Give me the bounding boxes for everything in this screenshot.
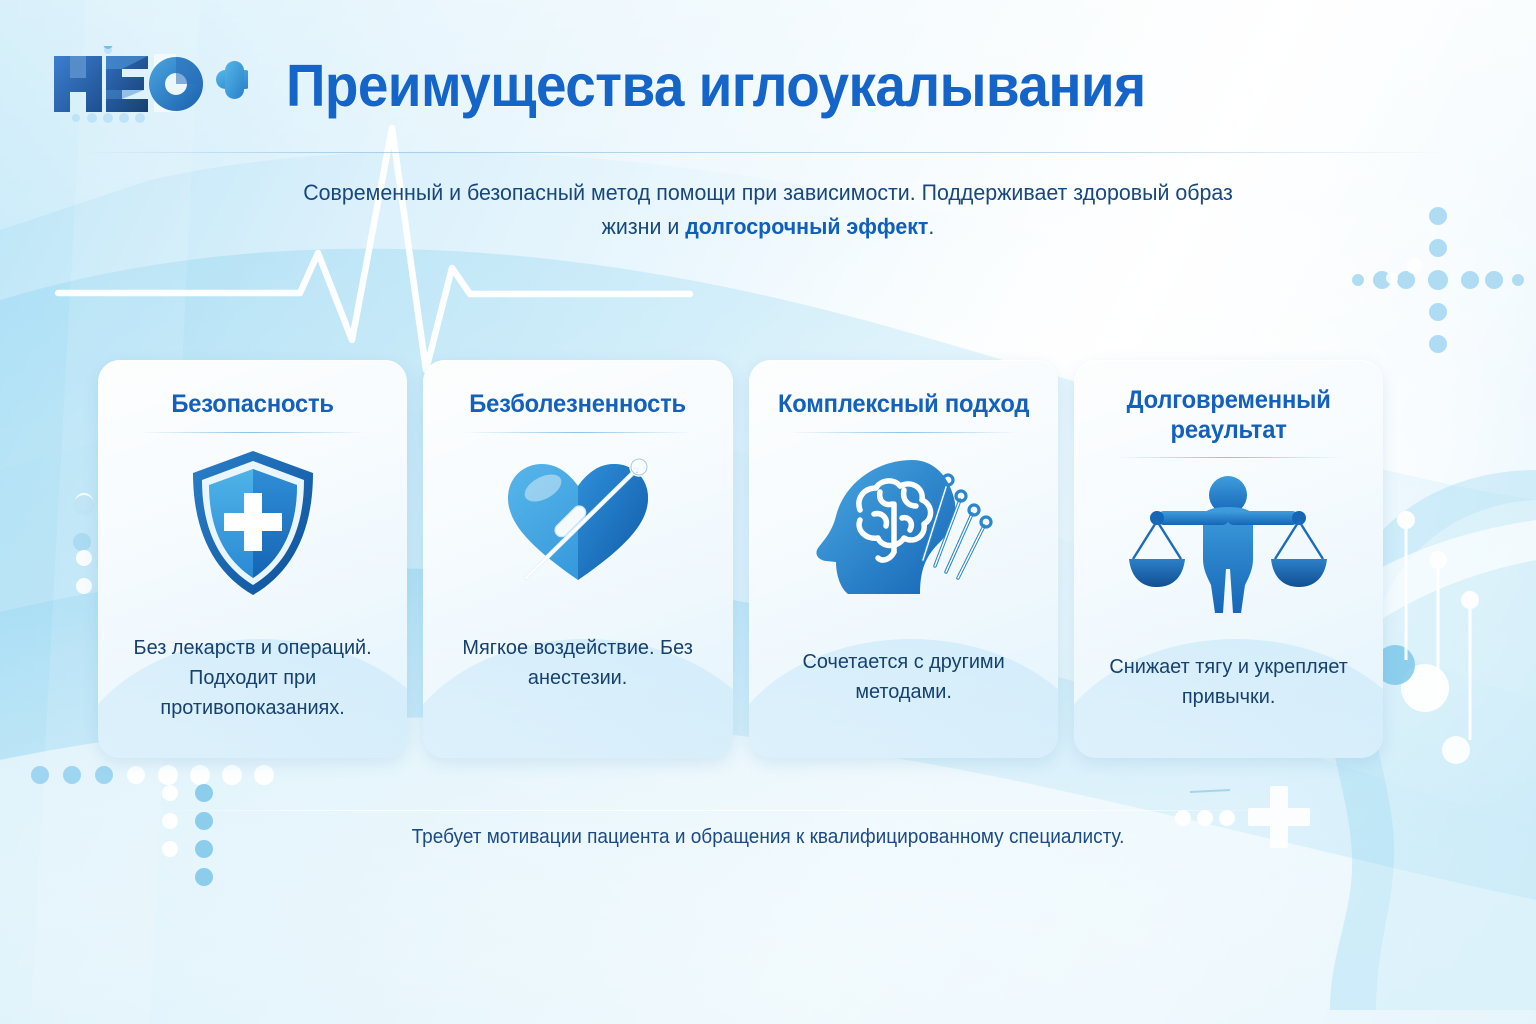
card-title: Комплексный подход — [756, 360, 1050, 420]
shield-cross-icon — [98, 439, 407, 607]
poster-header: Преимущества иглоукалывания — [0, 0, 1536, 158]
person-scales-icon — [1074, 464, 1383, 632]
subtitle: Современный и безопасный метод помощи пр… — [293, 176, 1243, 244]
subtitle-text-end: . — [928, 214, 934, 239]
footer-divider — [150, 810, 1300, 811]
page-title: Преимущества иглоукалывания — [286, 56, 1272, 118]
benefit-card-safety[interactable]: Безопасность — [98, 360, 407, 758]
card-title: Безопасность — [106, 360, 400, 420]
card-body: Снижает тягу и укрепляет привычки. — [1078, 632, 1378, 713]
benefit-card-painless[interactable]: Безболезненность — [423, 360, 732, 758]
benefit-cards: Безопасность — [98, 360, 1383, 758]
card-divider — [1114, 457, 1343, 458]
heart-needle-icon — [423, 439, 732, 607]
card-title: Долговременный реаультат — [1081, 360, 1375, 445]
infographic-poster: Преимущества иглоукалывания Современный … — [0, 0, 1536, 1024]
card-divider — [138, 432, 367, 433]
benefit-card-complex-approach[interactable]: Комплексный подход — [749, 360, 1058, 758]
brand-logo[interactable] — [48, 46, 248, 124]
card-body: Без лекарств и операций. Подходит при пр… — [103, 607, 403, 724]
header-divider — [80, 152, 1456, 153]
card-body: Сочетается с другими методами. — [753, 607, 1053, 708]
head-brain-needles-icon — [749, 439, 1058, 607]
card-divider — [789, 432, 1018, 433]
card-divider — [463, 432, 692, 433]
subtitle-highlight: долгосрочный эффект — [685, 214, 928, 239]
card-body: Мягкое воздействие. Без анестезии. — [428, 607, 728, 694]
footer-note: Требует мотивации пациента и обращения к… — [293, 826, 1243, 849]
card-title: Безболезненность — [431, 360, 725, 420]
benefit-card-long-term-result[interactable]: Долговременный реаультат — [1074, 360, 1383, 758]
